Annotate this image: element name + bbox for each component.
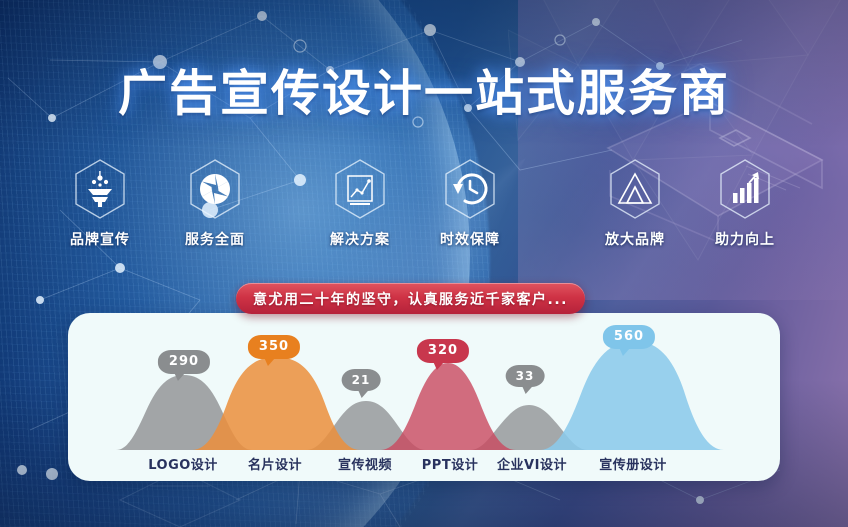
hexagon-frame xyxy=(331,157,389,221)
feature-item-brand[interactable]: 品牌宣传 xyxy=(52,157,148,249)
feature-label: 解决方案 xyxy=(312,229,408,249)
triangle-pyramid-icon xyxy=(619,174,651,203)
rewind-arrow-icon xyxy=(453,184,463,194)
bar-growth-icon xyxy=(733,178,759,203)
feature-label: 助力向上 xyxy=(697,229,793,249)
category-label: 名片设计 xyxy=(248,454,302,473)
promo-banner-text: 意尤用二十年的坚守，认真服务近千家客户... xyxy=(253,289,568,309)
feature-item-timeliness[interactable]: 时效保障 xyxy=(422,157,518,249)
feature-item-service[interactable]: 服务全面 xyxy=(167,157,263,249)
value-bubble: 290 xyxy=(158,350,210,374)
chart-card: 290 350 21 320 33 560 LOGO设计 名片设计 宣传视频 P… xyxy=(68,313,780,481)
value-bubble: 33 xyxy=(506,365,545,387)
category-label: PPT设计 xyxy=(422,454,478,473)
mountain-ppt xyxy=(380,363,516,450)
feature-icon-row: 品牌宣传 xyxy=(0,157,848,247)
feature-label: 放大品牌 xyxy=(587,229,683,249)
chart-category-labels: LOGO设计 名片设计 宣传视频 PPT设计 企业VI设计 宣传册设计 xyxy=(68,450,780,481)
hexagon-frame xyxy=(71,157,129,221)
aperture-icon xyxy=(200,174,230,204)
hexagon-frame xyxy=(441,157,499,221)
feature-item-solution[interactable]: 解决方案 xyxy=(312,157,408,249)
mountain-brochure xyxy=(540,341,724,450)
value-bubble: 560 xyxy=(603,325,655,349)
mountain-chart: 290 350 21 320 33 560 xyxy=(68,313,780,450)
page-title: 广告宣传设计一站式服务商 xyxy=(0,54,848,125)
feature-label: 品牌宣传 xyxy=(52,229,148,249)
feature-label: 时效保障 xyxy=(422,229,518,249)
value-bubble: 320 xyxy=(417,339,469,363)
category-label: 宣传视频 xyxy=(338,454,392,473)
category-label: 企业VI设计 xyxy=(497,454,567,473)
clock-rewind-icon xyxy=(458,175,486,203)
category-label: LOGO设计 xyxy=(148,454,218,473)
hexagon-frame xyxy=(186,157,244,221)
feature-item-amplify[interactable]: 放大品牌 xyxy=(587,157,683,249)
poster-canvas: 广告宣传设计一站式服务商 品牌宣传 xyxy=(0,0,848,527)
feature-label: 服务全面 xyxy=(167,229,263,249)
category-label: 宣传册设计 xyxy=(599,454,667,473)
megaphone-brand-icon xyxy=(88,171,112,207)
feature-item-growth[interactable]: 助力向上 xyxy=(697,157,793,249)
value-bubble: 21 xyxy=(342,369,381,391)
value-bubble: 350 xyxy=(248,335,300,359)
promo-banner: 意尤用二十年的坚守，认真服务近千家客户... xyxy=(236,283,585,314)
hexagon-frame xyxy=(716,157,774,221)
hexagon-frame xyxy=(606,157,664,221)
